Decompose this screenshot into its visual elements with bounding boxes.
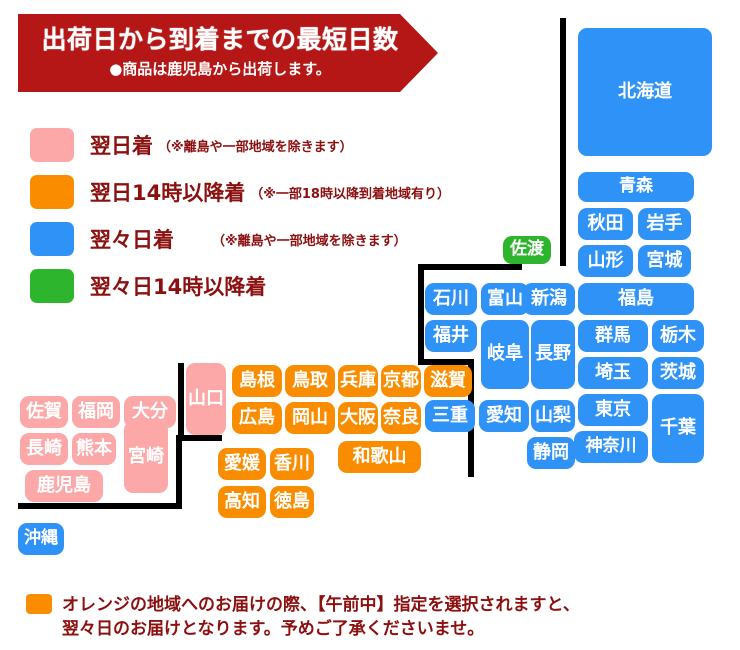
- prefecture-tile: 栃木: [652, 320, 704, 352]
- prefecture-tile: 奈良: [381, 402, 421, 434]
- prefecture-tile: 岩手: [638, 208, 691, 240]
- prefecture-tile: 千葉: [652, 394, 704, 463]
- prefecture-tile: 鳥取: [285, 365, 335, 397]
- prefecture-tile: 兵庫: [338, 365, 378, 397]
- prefecture-tile: 新潟: [523, 283, 575, 315]
- prefecture-tile: 静岡: [527, 437, 575, 469]
- prefecture-tile: 宮城: [638, 245, 691, 277]
- prefecture-tile: 長野: [531, 320, 575, 389]
- prefecture-tile: 福井: [425, 320, 477, 352]
- prefecture-tile: 群馬: [578, 320, 648, 352]
- prefecture-tile: 高知: [218, 486, 266, 518]
- prefecture-tile: 宮崎: [124, 421, 168, 493]
- japan-prefecture-map: 北海道青森秋田岩手山形宮城福島群馬栃木埼玉茨城東京千葉神奈川佐渡石川富山新潟福井…: [0, 0, 740, 580]
- prefecture-tile: 鹿児島: [25, 470, 103, 502]
- prefecture-tile: 山形: [578, 245, 633, 277]
- prefecture-tile: 秋田: [578, 208, 633, 240]
- region-divider-line: [18, 503, 182, 509]
- prefecture-tile: 北海道: [578, 28, 712, 156]
- footer-note-line1: オレンジの地域へのお届けの際、【午前中】指定を選択されますと、: [62, 590, 580, 615]
- prefecture-tile: 愛知: [479, 400, 529, 432]
- prefecture-tile: 石川: [425, 283, 477, 315]
- prefecture-tile: 大阪: [338, 402, 378, 434]
- prefecture-tile: 京都: [381, 365, 421, 397]
- prefecture-tile: 三重: [425, 400, 475, 432]
- prefecture-tile: 埼玉: [578, 357, 648, 389]
- region-divider-line: [178, 363, 184, 441]
- region-divider-line: [176, 435, 182, 507]
- prefecture-tile: 和歌山: [338, 441, 421, 473]
- footer-note-line2: 翌々日のお届けとなります。予めご了承くださいませ。: [62, 614, 484, 639]
- prefecture-tile: 熊本: [72, 433, 116, 465]
- region-divider-line: [418, 264, 424, 365]
- prefecture-tile: 滋賀: [424, 365, 472, 397]
- prefecture-tile: 茨城: [652, 357, 704, 389]
- prefecture-tile: 山口: [186, 363, 226, 435]
- prefecture-tile: 佐渡: [503, 236, 551, 264]
- prefecture-tile: 徳島: [270, 486, 314, 518]
- prefecture-tile: 東京: [578, 394, 648, 426]
- prefecture-tile: 香川: [270, 448, 314, 480]
- prefecture-tile: 神奈川: [574, 431, 648, 463]
- prefecture-tile: 福島: [578, 283, 694, 315]
- prefecture-tile: 岐阜: [481, 320, 529, 389]
- region-divider-line: [418, 264, 522, 270]
- prefecture-tile: 富山: [481, 283, 529, 315]
- prefecture-tile: 佐賀: [20, 396, 68, 428]
- prefecture-tile: 広島: [232, 402, 282, 434]
- prefecture-tile: 岡山: [285, 402, 335, 434]
- prefecture-tile: 福岡: [72, 396, 120, 428]
- prefecture-tile: 山梨: [531, 400, 575, 432]
- orange-swatch-icon: [26, 594, 52, 614]
- prefecture-tile: 愛媛: [218, 448, 266, 480]
- prefecture-tile: 沖縄: [18, 523, 64, 555]
- prefecture-tile: 島根: [232, 365, 282, 397]
- prefecture-tile: 長崎: [20, 433, 68, 465]
- region-divider-line: [178, 435, 222, 441]
- prefecture-tile: 青森: [578, 172, 694, 202]
- region-divider-line: [560, 18, 566, 266]
